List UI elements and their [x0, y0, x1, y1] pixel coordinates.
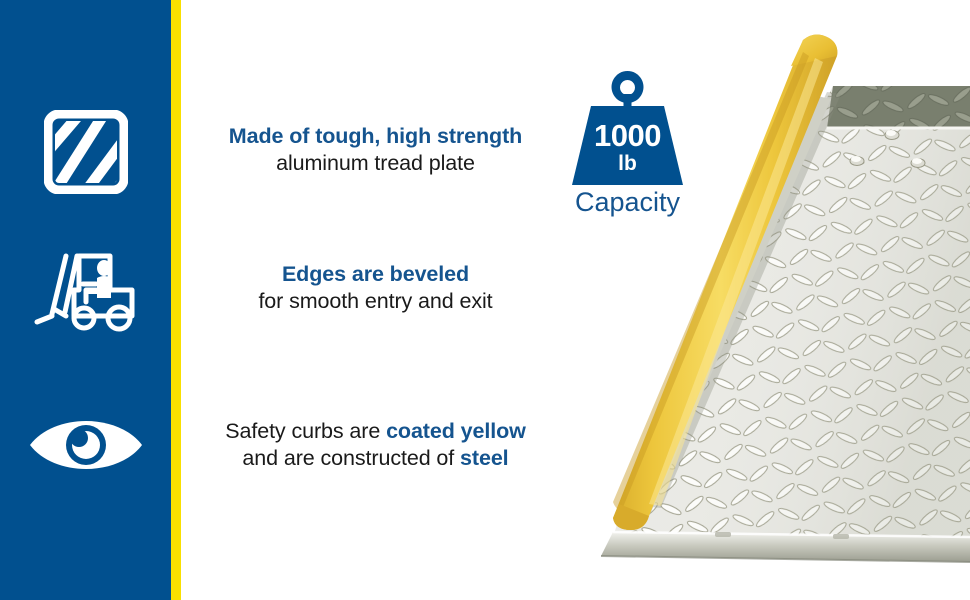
- feature-beveled-line1: Edges are beveled: [181, 261, 570, 288]
- feature-material: Made of tough, high strength aluminum tr…: [181, 123, 570, 176]
- feature-curbs-line1-highlight: coated yellow: [386, 419, 526, 443]
- feature-curbs-line2-highlight: steel: [460, 446, 509, 470]
- sidebar-item-visibility: [0, 405, 171, 485]
- feature-curbs-line2: and are constructed of steel: [181, 445, 570, 472]
- sidebar-item-forklift: [0, 250, 171, 336]
- feature-curbs-line1: Safety curbs are coated yellow: [181, 418, 570, 445]
- feature-beveled-edges: Edges are beveled for smooth entry and e…: [181, 261, 570, 314]
- tread-plate-icon: [44, 110, 128, 194]
- product-photo-illustration: [565, 0, 970, 600]
- eye-icon: [26, 407, 146, 483]
- forklift-icon: [34, 250, 138, 336]
- feature-curbs-line2-plain: and are constructed of: [242, 446, 460, 470]
- product-photo: [565, 0, 970, 600]
- tread-plate-far-edge: [565, 0, 970, 140]
- feature-curbs-line1-plain: Safety curbs are: [225, 419, 386, 443]
- infographic-banner: Made of tough, high strength aluminum tr…: [0, 0, 970, 600]
- feature-beveled-line2: for smooth entry and exit: [181, 288, 570, 315]
- feature-material-line2: aluminum tread plate: [181, 150, 570, 177]
- feature-safety-curbs: Safety curbs are coated yellow and are c…: [181, 418, 570, 471]
- feature-material-line1: Made of tough, high strength: [181, 123, 570, 150]
- accent-divider-stripe: [171, 0, 181, 600]
- sidebar-item-tread-plate: [0, 110, 171, 194]
